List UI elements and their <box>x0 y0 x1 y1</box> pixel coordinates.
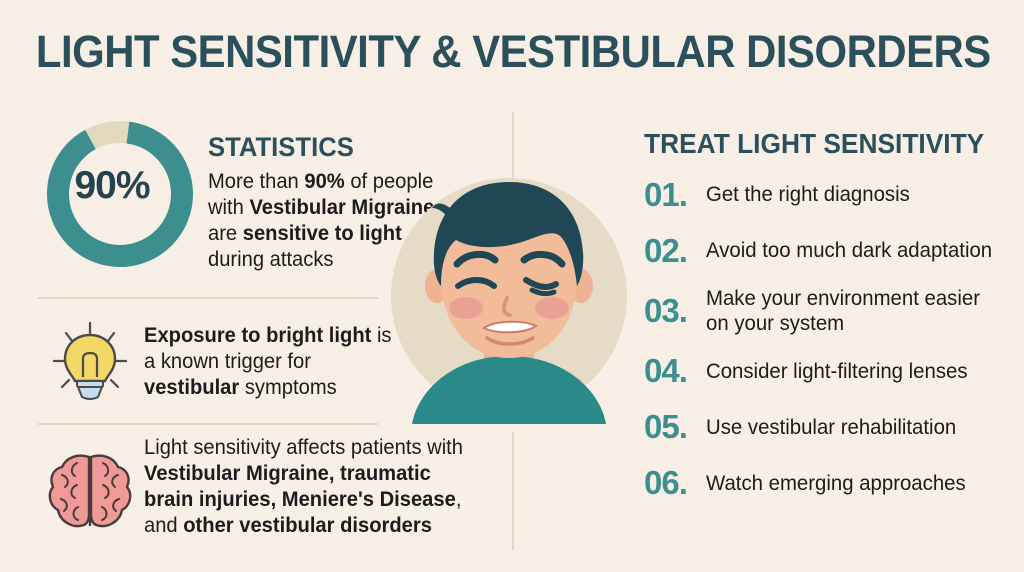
boy-cheek-right <box>535 297 569 319</box>
lightbulb-glass <box>65 335 115 381</box>
boy-cheek-left <box>449 297 483 319</box>
lightbulb-icon <box>42 319 138 407</box>
plain-text: during attacks <box>208 248 334 271</box>
list-item-number: 03. <box>644 292 706 330</box>
separator-line-2 <box>38 423 378 425</box>
emphasized-text: vestibular <box>144 376 239 399</box>
plain-text: are <box>208 222 243 245</box>
vertical-divider-bottom <box>512 432 514 550</box>
list-item-number: 04. <box>644 352 706 390</box>
brain-icon <box>44 449 136 535</box>
list-item-number: 01. <box>644 176 706 214</box>
list-item-label: Use vestibular rehabilitation <box>706 415 956 440</box>
list-item-label: Watch emerging approaches <box>706 471 966 496</box>
list-item-label: Avoid too much dark adaptation <box>706 238 992 263</box>
lightbulb-base-lower <box>78 387 102 399</box>
brain-fact-block: Light sensitivity affects patients with … <box>36 435 496 555</box>
emphasized-text: Exposure to bright light <box>144 324 371 347</box>
list-item-label: Get the right diagnosis <box>706 182 910 207</box>
list-item[interactable]: 04. Consider light-filtering lenses <box>644 350 1004 392</box>
list-item[interactable]: 01. Get the right diagnosis <box>644 174 1004 216</box>
treat-heading: TREAT LIGHT SENSITIVITY <box>644 128 982 160</box>
list-item[interactable]: 02. Avoid too much dark adaptation <box>644 230 1004 272</box>
wincing-boy-illustration <box>384 168 634 424</box>
list-item-number: 05. <box>644 408 706 446</box>
brain-left-hemisphere <box>50 456 89 526</box>
list-item-number: 02. <box>644 232 706 270</box>
separator-line-1 <box>38 297 378 299</box>
bright-light-fact-text: Exposure to bright light is a known trig… <box>144 323 394 401</box>
list-item[interactable]: 06. Watch emerging approaches <box>644 462 1004 504</box>
list-item[interactable]: 03. Make your environment easier on your… <box>644 286 1004 336</box>
emphasized-text: 90% <box>304 170 344 193</box>
brain-right-hemisphere <box>91 456 130 526</box>
list-item-label: Consider light-filtering lenses <box>706 359 968 384</box>
donut-center-value: 90% <box>36 110 188 262</box>
emphasized-text: other vestibular disorders <box>183 514 432 537</box>
plain-text: symptoms <box>239 376 336 399</box>
treat-light-sensitivity-column: TREAT LIGHT SENSITIVITY 01. Get the righ… <box>644 128 1004 518</box>
emphasized-text: Vestibular Migraine, traumatic brain inj… <box>144 462 456 511</box>
emphasized-text: sensitive to light <box>243 222 402 245</box>
statistics-heading: STATISTICS <box>208 132 457 163</box>
list-item-number: 06. <box>644 464 706 502</box>
page-title: LIGHT SENSITIVITY & VESTIBULAR DISORDERS <box>36 26 988 78</box>
list-item[interactable]: 05. Use vestibular rehabilitation <box>644 406 1004 448</box>
plain-text: Light sensitivity affects patients with <box>144 436 463 459</box>
list-item-label: Make your environment easier on your sys… <box>706 286 995 336</box>
brain-fact-text: Light sensitivity affects patients with … <box>144 435 480 539</box>
plain-text: More than <box>208 170 304 193</box>
